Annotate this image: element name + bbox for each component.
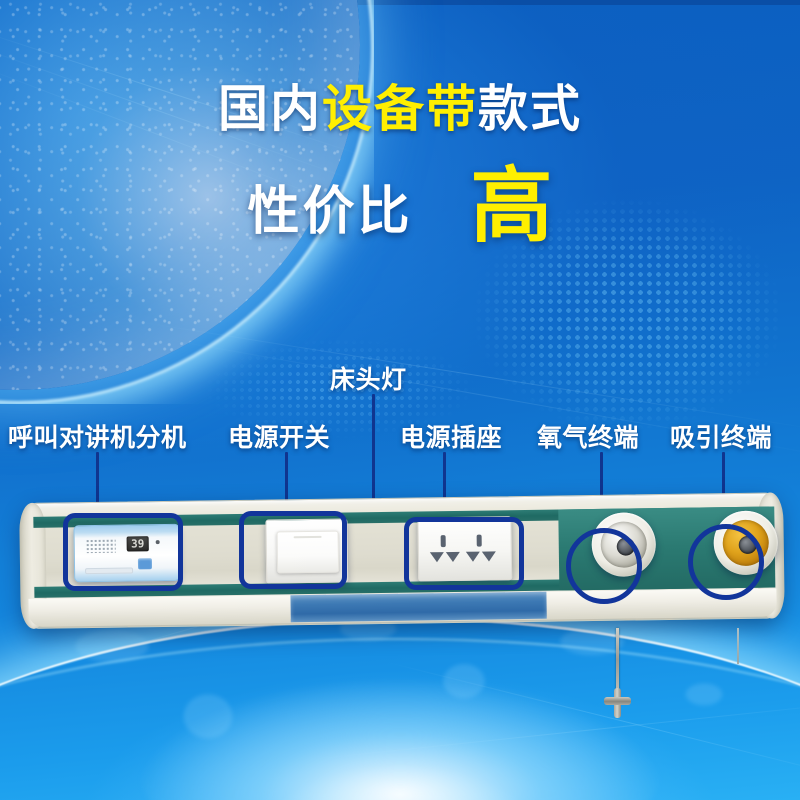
- headline-line-1: 国内设备带款式: [0, 84, 800, 134]
- callout-label-oxygen-outlet: 氧气终端: [537, 418, 639, 454]
- panel-dust-channel: [290, 592, 546, 623]
- headline-part-2: 设备带: [322, 84, 478, 134]
- headline-part-3: 款式: [478, 84, 582, 134]
- hanging-cord-secondary: [737, 628, 739, 664]
- fitting-crossbar: [604, 697, 631, 705]
- subheadline-text: 性价比: [247, 169, 412, 244]
- highlight-box-call-intercom: [63, 513, 183, 591]
- callout-label-power-switch: 电源开关: [228, 418, 330, 454]
- highlight-circle-suction: [688, 524, 764, 600]
- banner-stage: 国内设备带款式 性价比高 呼叫对讲机分机 电源开关 床头灯 电源插座 氧气终端 …: [0, 0, 800, 800]
- hanging-cord: [616, 628, 619, 692]
- highlight-box-power-switch: [239, 511, 347, 589]
- callout-label-call-intercom: 呼叫对讲机分机: [8, 418, 187, 454]
- headline-line-2: 性价比高: [0, 168, 800, 246]
- callout-label-bed-lamp: 床头灯: [330, 360, 407, 396]
- subheadline-accent: 高: [471, 168, 553, 246]
- callout-label-suction-outlet: 吸引终端: [670, 418, 772, 454]
- highlight-circle-oxygen: [566, 528, 642, 604]
- headline-part-1: 国内: [218, 84, 322, 134]
- cord-metal-fitting: [604, 688, 631, 718]
- callout-label-power-socket: 电源插座: [400, 418, 502, 454]
- highlight-box-power-socket: [404, 517, 524, 590]
